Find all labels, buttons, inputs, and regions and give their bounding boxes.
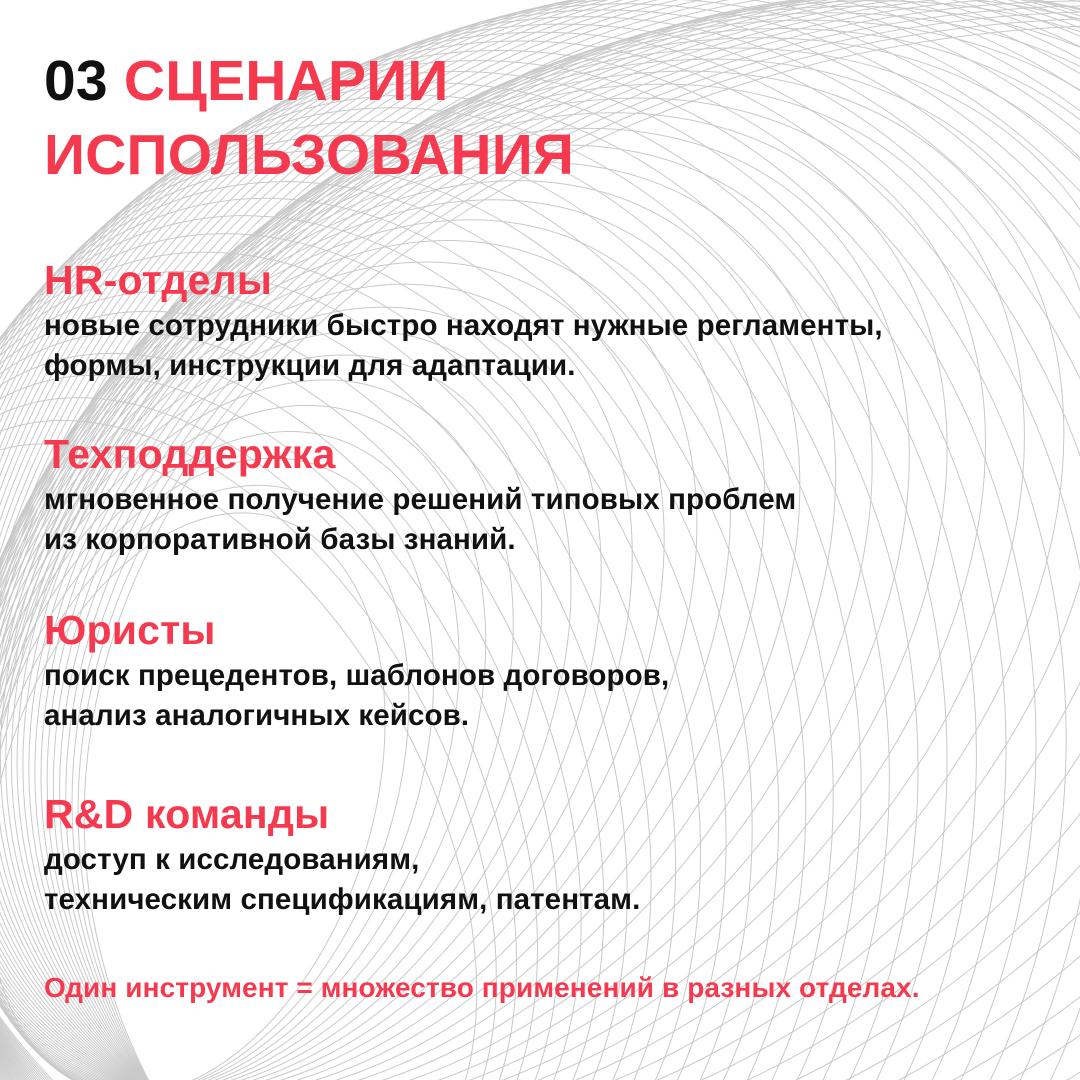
section-number: 03 [44, 49, 108, 113]
usecase-body-legal-line2: анализ аналогичных кейсов. [44, 696, 1044, 736]
usecase-body-rnd-line1: доступ к исследованиям, [44, 840, 1044, 880]
usecase-section-support: Техподдержка мгновенное получение решени… [44, 430, 1044, 560]
title-line-2: ИСПОЛЬЗОВАНИЯ [44, 118, 1024, 192]
usecase-body-hr-line1: новые сотрудники быстро находят нужные р… [44, 306, 1044, 346]
usecase-heading-legal: Юристы [44, 606, 1044, 654]
page-title: 03 СЦЕНАРИИ ИСПОЛЬЗОВАНИЯ [44, 44, 1024, 192]
slide-content: 03 СЦЕНАРИИ ИСПОЛЬЗОВАНИЯ HR-отделы новы… [0, 0, 1080, 1080]
usecase-body-hr-line2: формы, инструкции для адаптации. [44, 346, 1044, 386]
usecase-heading-support: Техподдержка [44, 430, 1044, 478]
usecase-heading-rnd: R&D команды [44, 790, 1044, 838]
usecase-body-legal-line1: поиск прецедентов, шаблонов договоров, [44, 656, 1044, 696]
usecase-body-support-line1: мгновенное получение решений типовых про… [44, 480, 1044, 520]
title-line-1: 03 СЦЕНАРИИ [44, 44, 1024, 118]
usecase-section-rnd: R&D команды доступ к исследованиям, техн… [44, 790, 1044, 920]
slide-canvas: 03 СЦЕНАРИИ ИСПОЛЬЗОВАНИЯ HR-отделы новы… [0, 0, 1080, 1080]
usecase-section-legal: Юристы поиск прецедентов, шаблонов догов… [44, 606, 1044, 736]
usecase-body-support-line2: из корпоративной базы знаний. [44, 520, 1044, 560]
usecase-body-rnd-line2: техническим спецификациям, патентам. [44, 880, 1044, 920]
usecase-section-hr: HR-отделы новые сотрудники быстро находя… [44, 256, 1044, 386]
title-word-1: СЦЕНАРИИ [124, 49, 449, 113]
usecase-heading-hr: HR-отделы [44, 256, 1044, 304]
footer-tagline: Один инструмент = множество применений в… [44, 970, 920, 1006]
